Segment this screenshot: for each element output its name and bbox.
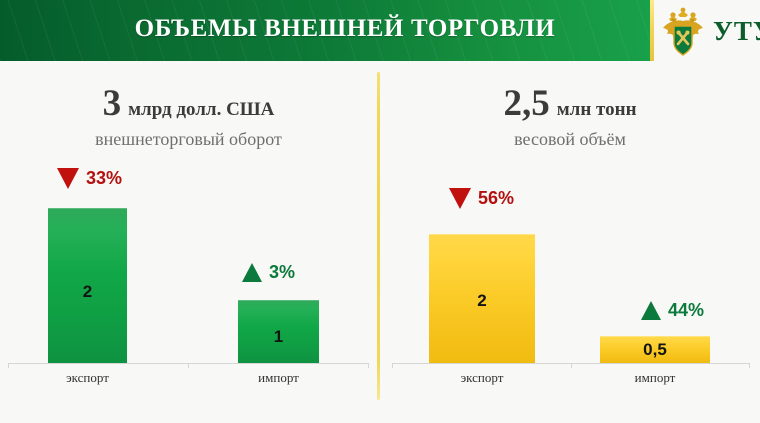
bar-export: 2: [48, 208, 127, 363]
category-label-export: экспорт: [48, 370, 127, 386]
category-label-import: импорт: [238, 370, 319, 386]
kpi-unit: млн тонн: [557, 99, 637, 120]
kpi-headline-value: 2,5млн тонн: [380, 82, 760, 125]
delta-percent: 3%: [269, 262, 295, 283]
axis-tick: [8, 363, 9, 368]
triangle-up-icon: [242, 263, 262, 282]
bar-import: 1: [238, 300, 319, 363]
delta-export-value: 33%: [57, 168, 122, 189]
kpi-number: 3: [103, 83, 122, 124]
kpi-caption: весовой объём: [380, 129, 760, 150]
delta-percent: 56%: [478, 188, 514, 209]
bar-import: 0,5: [600, 336, 710, 363]
kpi-headline-value: 3млрд долл. США: [0, 82, 377, 125]
panel-trade-value: 3млрд долл. США внешнеторговый оборот 2 …: [0, 0, 377, 423]
delta-import-value: 44%: [641, 300, 704, 321]
bar-value-label: 1: [238, 327, 319, 347]
bar-value-label: 2: [429, 291, 535, 311]
axis-tick: [188, 363, 189, 368]
kpi-caption: внешнеторговый оборот: [0, 129, 377, 150]
delta-percent: 44%: [668, 300, 704, 321]
category-label-import: импорт: [600, 370, 710, 386]
delta-export-value: 56%: [449, 188, 514, 209]
category-label-export: экспорт: [429, 370, 535, 386]
delta-import-value: 3%: [242, 262, 295, 283]
bar-value-label: 2: [48, 282, 127, 302]
kpi-number: 2,5: [503, 83, 549, 124]
delta-percent: 33%: [86, 168, 122, 189]
triangle-up-icon: [641, 301, 661, 320]
panel-trade-weight: 2,5млн тонн весовой объём 2 0,5 экспорт …: [380, 0, 760, 423]
axis-tick: [368, 363, 369, 368]
kpi-unit: млрд долл. США: [128, 99, 274, 120]
axis-tick: [749, 363, 750, 368]
axis-tick: [392, 363, 393, 368]
triangle-down-icon: [449, 188, 471, 209]
triangle-down-icon: [57, 168, 79, 189]
axis-tick: [571, 363, 572, 368]
slide-root: ОБЪЕМЫ ВНЕШНЕЙ ТОРГОВЛИ УТУ: [0, 0, 760, 423]
bar-value-label: 0,5: [600, 340, 710, 360]
bar-export: 2: [429, 234, 535, 363]
